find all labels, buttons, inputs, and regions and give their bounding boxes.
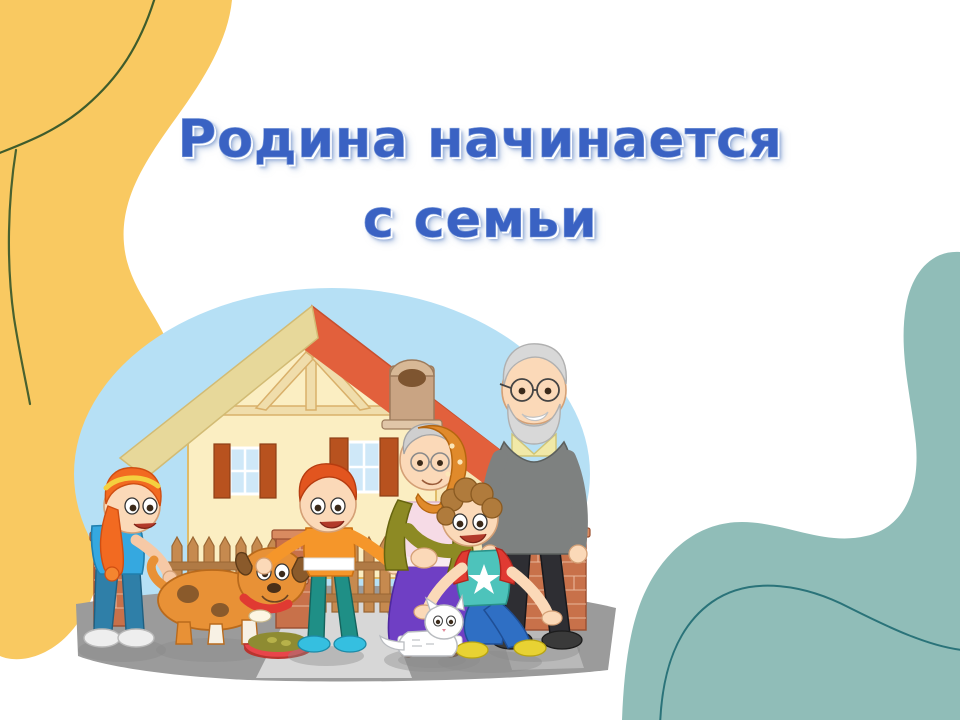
- window-left: [214, 444, 276, 498]
- family-illustration: [60, 278, 620, 690]
- page-title: Родина начинается с семьи: [0, 104, 960, 256]
- teal-blob: [622, 252, 960, 720]
- title-slide: Родина начинается с семьи: [0, 0, 960, 720]
- chimney: [382, 360, 442, 429]
- title-line-2: с семьи: [0, 184, 960, 256]
- title-line-1: Родина начинается: [0, 104, 960, 176]
- dog-bone-tag: [249, 610, 271, 622]
